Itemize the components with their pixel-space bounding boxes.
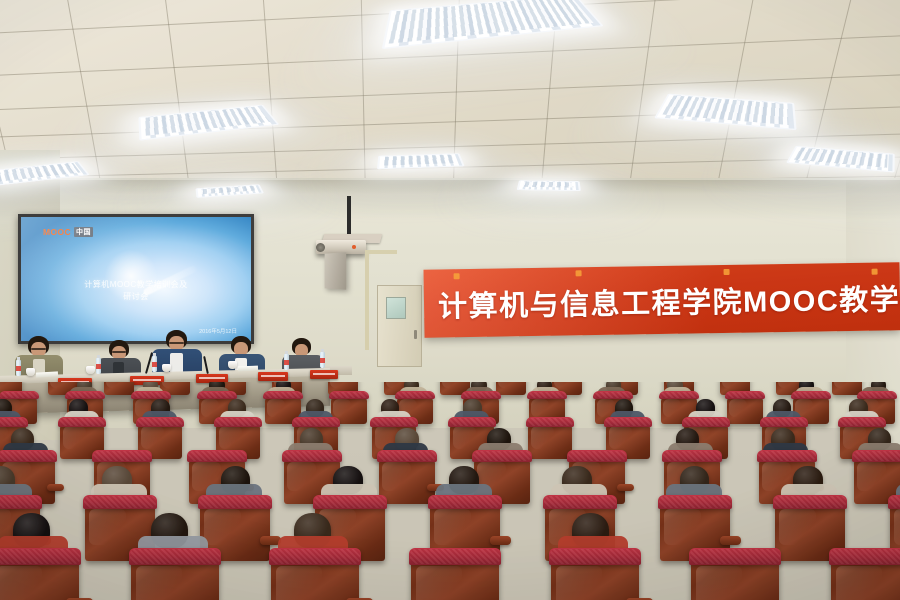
auditorium-seat-cushion [829,548,900,565]
auditorium-seat-cushion [282,450,342,462]
auditorium-seat [496,382,526,395]
auditorium-seat-cushion [214,417,262,427]
banner-pin [724,269,730,275]
auditorium-seat-cushion [395,391,435,399]
banner-pin [872,269,878,275]
auditorium-seat-cushion [0,391,39,399]
auditorium-seat [379,458,435,504]
auditorium-seat [271,559,359,600]
water-bottle [320,352,325,368]
document [238,366,258,372]
auditorium-seat-cushion [198,495,272,509]
auditorium-seat [411,559,499,600]
projector-mount-pole [347,196,351,238]
auditorium-seat-cushion [0,495,42,509]
auditorium-seat [831,559,900,600]
banner-pin [454,273,460,279]
seat-armrest [47,484,64,491]
slide-date: 2016年5月12日 [199,327,237,335]
auditorium-seat-cushion [263,391,303,399]
auditorium-seat [528,423,572,459]
water-bottle [16,360,21,376]
auditorium-seat-cushion [838,417,886,427]
auditorium-seat-cushion [472,450,532,462]
auditorium-seat-cushion [549,548,641,565]
auditorium-seat [131,559,219,600]
auditorium-seat-cushion [377,450,437,462]
auditorium-seat-cushion [0,548,81,565]
event-banner-text: 计算机与信息工程学院MOOC教学研讨会 [424,275,900,326]
auditorium-seat [0,559,79,600]
auditorium-seat-cushion [526,417,574,427]
auditorium-seat-cushion [83,495,157,509]
auditorium-seat-cushion [65,391,105,399]
water-bottle [284,354,289,370]
projection-screen-surface: MOOC 中国 计算机MOOC教学培训会及 研讨会 2016年5月12日 [21,217,251,341]
wall-conduit-vertical [365,250,369,350]
auditorium-seat [691,559,779,600]
door-handle-icon[interactable] [414,330,417,339]
auditorium-seat-cushion [269,548,361,565]
auditorium-seat-cushion [888,495,900,509]
auditorium-seat-cushion [604,417,652,427]
auditorium-seat-cushion [773,495,847,509]
auditorium-seat-cushion [725,391,765,399]
auditorium-seat-cushion [329,391,369,399]
wall-conduit-horizontal [365,250,397,254]
seat-armrest [617,484,634,491]
water-bottle [152,356,157,372]
mooc-logo-text: MOOC [43,227,71,237]
tea-cup [26,368,35,376]
auditorium-seat-cushion [527,391,567,399]
auditorium-seat-cushion [292,417,340,427]
nameplate [310,370,338,379]
auditorium-seat-cushion [92,450,152,462]
auditorium-seat-cushion [689,548,781,565]
auditorium-seat-cushion [791,391,831,399]
auditorium-seat-cushion [428,495,502,509]
auditorium-seat-cushion [58,417,106,427]
auditorium-seat-cushion [543,495,617,509]
slide-title: 计算机MOOC教学培训会及 研讨会 [21,279,251,303]
auditorium-seat-cushion [593,391,633,399]
auditorium-seat-cushion [313,495,387,509]
auditorium-seat-cushion [187,450,247,462]
tea-cup [86,366,95,374]
auditorium-seat-cushion [448,417,496,427]
mooc-logo-cn: 中国 [74,227,93,237]
projector-power-led-icon [352,245,356,249]
seat-armrest [490,536,511,545]
ceiling-light-fixture [377,153,460,167]
auditorium-seat-cushion [409,548,501,565]
auditorium-seat-cushion [682,417,730,427]
nameplate [258,372,288,381]
banner-pin [576,270,582,276]
mooc-logo: MOOC 中国 [43,227,93,237]
wall-speaker [325,252,347,289]
auditorium-seat-cushion [370,417,418,427]
auditorium-seat-cushion [136,417,184,427]
auditorium-seat-cushion [197,391,237,399]
auditorium-seat-cushion [131,391,171,399]
seat-armrest [720,536,741,545]
auditorium-seat-cushion [852,450,900,462]
ceiling-light-fixture [517,180,576,189]
slide-ray-graphic [142,264,197,296]
auditorium-seat [727,396,763,424]
projection-screen: MOOC 中国 计算机MOOC教学培训会及 研讨会 2016年5月12日 [18,214,254,344]
auditorium-seat-cushion [567,450,627,462]
tea-cup [228,361,237,369]
slide-light-burst [101,246,161,306]
slide-title-line1: 计算机MOOC教学培训会及 [21,279,251,291]
auditorium-seat-cushion [461,391,501,399]
auditorium-seat-cushion [757,450,817,462]
lecture-hall-photo: MOOC 中国 计算机MOOC教学培训会及 研讨会 2016年5月12日 计算机… [0,0,900,600]
tea-cup [162,364,171,372]
projector-lens-icon [316,243,325,252]
door-window-panel [386,297,406,319]
slide-title-line2: 研讨会 [21,291,251,303]
auditorium-seat-cushion [662,450,722,462]
water-bottle [96,358,101,374]
auditorium-seat-cushion [129,548,221,565]
auditorium-seat-cushion [760,417,808,427]
auditorium-seat-cushion [0,417,28,427]
auditorium-seat [551,559,639,600]
audience-seating [0,382,900,600]
auditorium-seat [104,382,134,395]
event-banner: 计算机与信息工程学院MOOC教学研讨会 [423,262,900,337]
auditorium-seat-cushion [857,391,897,399]
auditorium-seat-cushion [658,495,732,509]
auditorium-seat-cushion [659,391,699,399]
auditorium-seat-cushion [0,450,57,462]
